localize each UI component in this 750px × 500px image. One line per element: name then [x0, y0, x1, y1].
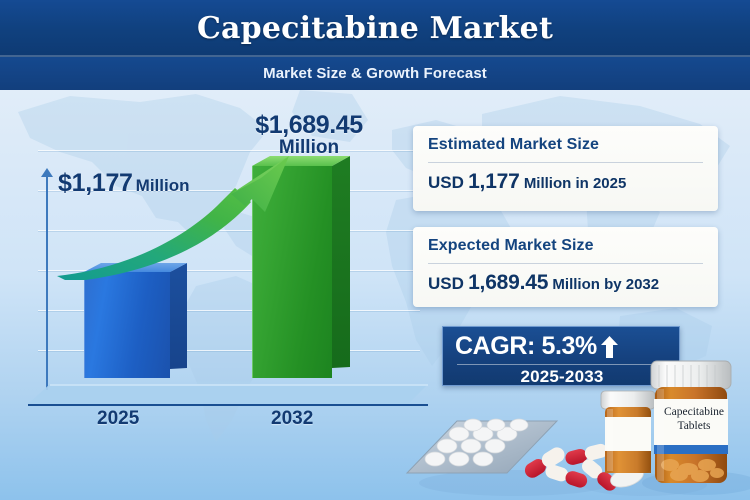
- value-unit-2025: Million: [136, 176, 190, 195]
- header-bar: Capecitabine Market: [0, 0, 750, 57]
- y-axis: [40, 168, 54, 390]
- pharmaceutical-illustration: Capecitabine Tablets: [395, 355, 750, 500]
- card-value-tail: Million in 2025: [524, 175, 627, 192]
- infographic-root: Capecitabine Market Market Size & Growth…: [0, 0, 750, 500]
- subheader-bar: Market Size & Growth Forecast: [0, 57, 750, 90]
- pill-bottle-small-icon: [601, 391, 655, 473]
- card-title: Expected Market Size: [428, 237, 703, 255]
- value-unit-2032: Million: [234, 138, 384, 158]
- value-amount-2025: $1,177: [58, 169, 133, 197]
- bottle-label-line2: Tablets: [652, 419, 736, 433]
- card-value-tail: Million by 2032: [552, 276, 659, 293]
- x-label-2025: 2025: [97, 408, 139, 430]
- value-amount-2032: $1,689.45: [234, 112, 384, 138]
- card-value: USD 1,177 Million in 2025: [428, 170, 703, 194]
- chart-floor: [28, 378, 428, 406]
- estimated-market-size-card: Estimated Market Size USD 1,177 Million …: [413, 126, 718, 211]
- card-value: USD 1,689.45 Million by 2032: [428, 271, 703, 295]
- value-label-2032: $1,689.45 Million: [234, 112, 384, 158]
- card-divider: [428, 162, 703, 163]
- expected-market-size-card: Expected Market Size USD 1,689.45 Millio…: [413, 227, 718, 307]
- card-divider: [428, 263, 703, 264]
- page-subtitle: Market Size & Growth Forecast: [263, 65, 487, 82]
- card-title: Estimated Market Size: [428, 136, 703, 154]
- bottle-label-line1: Capecitabine: [652, 405, 736, 419]
- page-title: Capecitabine Market: [197, 11, 553, 46]
- card-value-currency: USD: [428, 274, 464, 293]
- card-value-currency: USD: [428, 173, 464, 192]
- card-value-number: 1,689.45: [468, 271, 548, 294]
- x-label-2032: 2032: [271, 408, 313, 430]
- value-label-2025: $1,177Million: [58, 169, 190, 198]
- bottle-label: Capecitabine Tablets: [652, 405, 736, 434]
- bar-chart: $1,177Million $1,689.45 Million 2025 203…: [0, 90, 420, 500]
- card-value-number: 1,177: [468, 170, 520, 193]
